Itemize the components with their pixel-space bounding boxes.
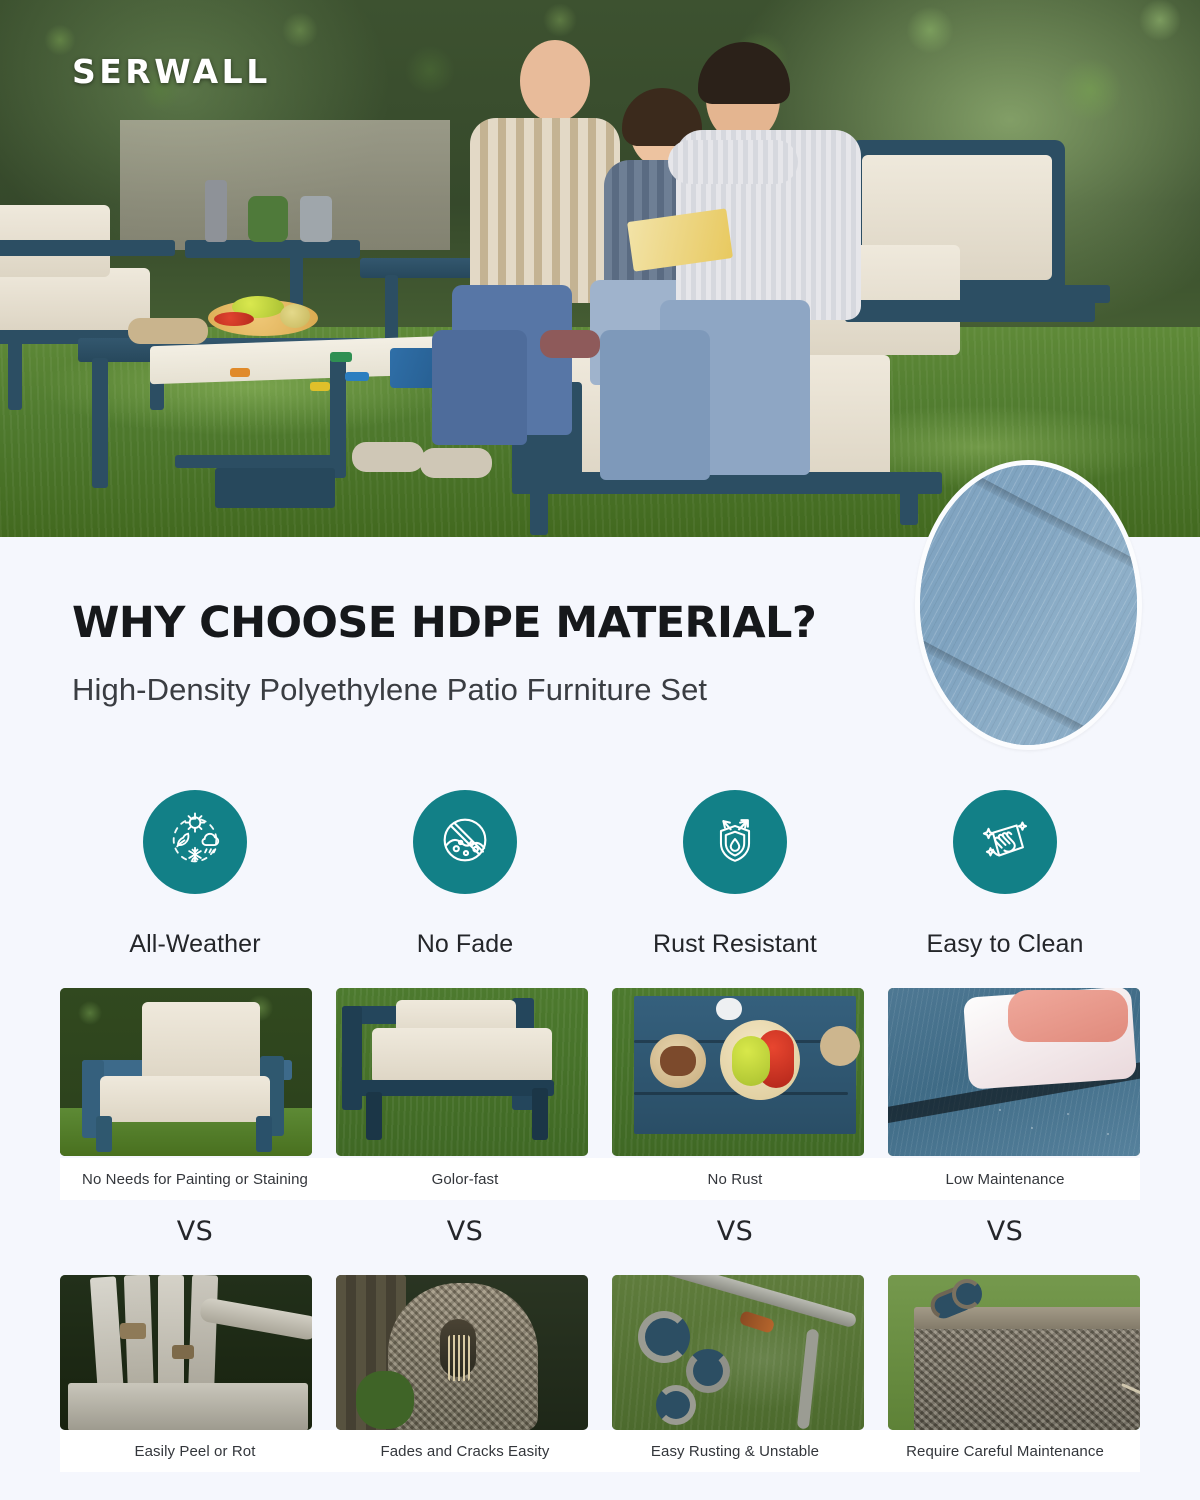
other-thumb-peel-rot <box>60 1275 312 1430</box>
page-title: WHY CHOOSE HDPE MATERIAL? <box>72 598 816 648</box>
right-sofa-leg-2 <box>900 480 918 525</box>
hdpe-caption: Low Maintenance <box>870 1158 1140 1200</box>
frayed-fibers <box>448 1335 470 1381</box>
other-material-caption-bar: Easily Peel or Rot Fades and Cracks Easi… <box>60 1430 1140 1472</box>
coffee-table-stretcher-2 <box>215 468 335 508</box>
hdpe-caption: Golor-fast <box>330 1158 600 1200</box>
side-plate <box>820 1026 860 1066</box>
feature-rust-resistant: Rust Resistant <box>600 790 870 959</box>
brand-logo: SERWALL <box>72 52 271 91</box>
vs-label: VS <box>60 1216 330 1247</box>
hdpe-caption: No Needs for Painting or Staining <box>60 1158 330 1200</box>
decor-lantern <box>205 180 227 242</box>
left-chair-cushion <box>0 268 150 330</box>
feature-icon-badge <box>143 790 247 894</box>
other-thumb-fades-cracks <box>336 1275 588 1430</box>
hdpe-material-swatch <box>915 460 1142 750</box>
other-caption: Require Careful Maintenance <box>870 1430 1140 1472</box>
game-piece-blue <box>345 372 369 381</box>
feature-label: All-Weather <box>129 930 260 959</box>
vs-label: VS <box>870 1216 1140 1247</box>
water-droplets <box>988 1098 1140 1156</box>
other-caption: Easily Peel or Rot <box>60 1430 330 1472</box>
other-material-image-row <box>60 1275 1140 1430</box>
left-chair-leg <box>8 340 22 410</box>
chair-leg <box>96 1116 112 1152</box>
chair-leg-2 <box>256 1116 272 1152</box>
coffee-table-stretcher <box>175 455 335 468</box>
feature-label: Rust Resistant <box>653 930 817 959</box>
chair-seat-cushion <box>372 1028 552 1084</box>
game-piece-yellow <box>310 382 330 391</box>
father-arm <box>668 140 798 184</box>
fruit-pear <box>280 304 310 328</box>
bowl-grapes <box>732 1036 770 1086</box>
vs-label: VS <box>600 1216 870 1247</box>
bread-loaf <box>660 1046 696 1076</box>
metal-scroll <box>686 1349 730 1393</box>
other-thumb-rusting <box>612 1275 864 1430</box>
all-weather-icon <box>164 809 226 876</box>
bread-plate <box>128 318 208 344</box>
chair-rail <box>354 1080 554 1096</box>
broken-wicker-strand <box>952 1279 982 1309</box>
chair-leg <box>366 1092 382 1140</box>
hdpe-image-row <box>60 988 1140 1156</box>
feature-list: All-Weather No Fade <box>60 790 1140 959</box>
feature-icon-badge <box>413 790 517 894</box>
mother-head <box>520 40 590 122</box>
hand <box>1008 990 1128 1042</box>
other-caption: Fades and Cracks Easity <box>330 1430 600 1472</box>
coffee-table-leg-front-left <box>92 358 108 488</box>
chair-leg-2 <box>532 1088 548 1140</box>
mother-shoe-2 <box>420 448 492 478</box>
feature-easy-to-clean: Easy to Clean <box>870 790 1140 959</box>
right-sofa-arm <box>845 300 1095 322</box>
rust-resistant-icon <box>704 809 766 876</box>
mother-plaid-shirt <box>470 118 620 303</box>
feature-icon-badge <box>683 790 787 894</box>
vs-separator-row: VS VS VS VS <box>60 1216 1140 1247</box>
game-piece-orange <box>230 368 250 377</box>
wood-slat <box>188 1275 218 1399</box>
shrub <box>356 1371 414 1429</box>
hdpe-thumb-low-maintenance <box>888 988 1140 1156</box>
feature-no-fade: No Fade <box>330 790 600 959</box>
page-subtitle: High-Density Polyethylene Patio Furnitur… <box>72 672 707 708</box>
other-thumb-careful-maintenance <box>888 1275 1140 1430</box>
teapot <box>716 998 742 1020</box>
no-fade-icon <box>434 809 496 876</box>
hero-photo: SERWALL <box>0 0 1200 537</box>
right-sofa-frame <box>512 472 942 494</box>
hdpe-thumb-no-rust <box>612 988 864 1156</box>
mother-shoe <box>352 442 424 472</box>
feature-label: Easy to Clean <box>927 930 1084 959</box>
hdpe-thumb-color-fast <box>336 988 588 1156</box>
decor-jar <box>300 196 332 242</box>
feature-icon-badge <box>953 790 1057 894</box>
hdpe-caption-bar: No Needs for Painting or Staining Golor-… <box>60 1158 1140 1200</box>
decor-plant <box>248 196 288 242</box>
metal-scroll <box>656 1385 696 1425</box>
other-caption: Easy Rusting & Unstable <box>600 1430 870 1472</box>
boy-shoe <box>540 330 600 358</box>
hdpe-thumb-no-painting <box>60 988 312 1156</box>
father-jeans-2 <box>600 330 710 480</box>
metal-scroll <box>638 1311 690 1363</box>
fruit-berries <box>214 312 254 326</box>
feature-all-weather: All-Weather <box>60 790 330 959</box>
left-chair-arm <box>0 240 175 256</box>
game-piece-green <box>330 352 352 362</box>
peeling-paint-patch <box>172 1345 194 1359</box>
chair-seat-cushion <box>100 1076 270 1122</box>
right-sofa-leg <box>530 490 548 535</box>
peeling-paint-patch <box>120 1323 146 1339</box>
vs-label: VS <box>330 1216 600 1247</box>
chair-seat <box>68 1383 308 1430</box>
right-sofa-arm-rear <box>1050 285 1110 303</box>
back-bench-seat <box>185 240 360 258</box>
feature-label: No Fade <box>417 930 514 959</box>
mother-jeans-2 <box>432 330 527 445</box>
easy-to-clean-icon <box>974 809 1036 876</box>
hdpe-caption: No Rust <box>600 1158 870 1200</box>
chair-back-cushion <box>142 1002 260 1084</box>
